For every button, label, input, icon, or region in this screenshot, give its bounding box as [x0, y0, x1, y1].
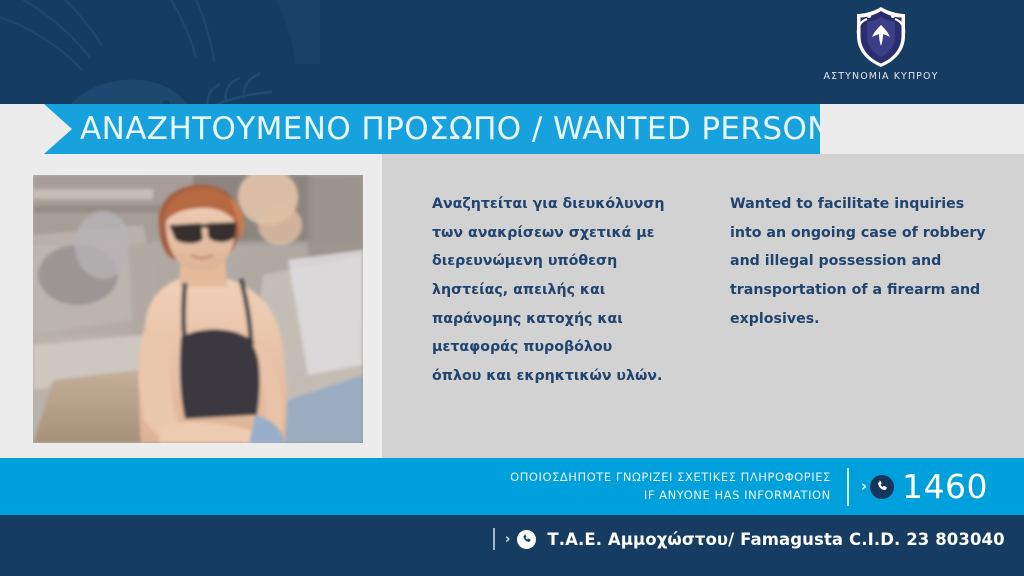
greek-line-6: όπλου και εκρηκτικών υλών. [432, 362, 694, 391]
dove-olive-branch-icon [0, 0, 320, 104]
english-line-2: and illegal possession and [730, 247, 992, 276]
police-force-block: ΑΣΤΥΝΟΜΙΑ ΚΥΠΡΟΥ [766, 6, 996, 82]
wanted-person-poster: ΑΣΤΥΝΟΜΙΑ ΚΥΠΡΟΥ Για μια πιο ασφαλή κοιν… [0, 0, 1024, 576]
hotline-prompt-greek: ΟΠΟΙΟΣΔΗΠΟΤΕ ΓΝΩΡΙΖΕΙ ΣΧΕΤΙΚΕΣ ΠΛΗΡΟΦΟΡΙ… [510, 469, 831, 487]
english-line-1: into an ongoing case of robbery [730, 219, 992, 248]
hotline-prompt-english: IF ANYONE HAS INFORMATION [510, 487, 831, 505]
hotline-divider [847, 468, 849, 506]
greek-line-5: μεταφοράς πυροβόλου [432, 333, 694, 362]
greek-line-2: διερευνώμενη υπόθεση [432, 247, 694, 276]
description-greek: Αναζητείται για διευκόλυνση των ανακρίσε… [432, 190, 694, 391]
telephone-handset-icon [517, 530, 536, 549]
page-title: ΑΝΑΖΗΤΟΥΜΕΝΟ ΠΡΟΣΩΠΟ / WANTED PERSON [80, 111, 831, 147]
description-columns: Αναζητείται για διευκόλυνση των ανακρίσε… [432, 190, 992, 391]
footer-divider [493, 528, 495, 550]
suspect-photo [33, 175, 363, 443]
chevron-right-icon: › [861, 479, 867, 494]
description-english: Wanted to facilitate inquiries into an o… [730, 190, 992, 391]
police-force-name: ΑΣΤΥΝΟΜΙΑ ΚΥΠΡΟΥ [766, 71, 996, 82]
wanted-person-banner: ΑΝΑΖΗΤΟΥΜΕΝΟ ΠΡΟΣΩΠΟ / WANTED PERSON [44, 104, 820, 154]
telephone-handset-icon [870, 475, 894, 499]
chevron-right-icon: › [505, 533, 510, 546]
hotline-number[interactable]: 1460 [902, 470, 988, 503]
footer-contact-text[interactable]: Τ.Α.Ε. Αμμοχώστου/ Famagusta C.I.D. 23 8… [547, 530, 1004, 549]
english-line-4: explosives. [730, 305, 992, 334]
english-line-0: Wanted to facilitate inquiries [730, 190, 992, 219]
greek-line-1: των ανακρίσεων σχετικά με [432, 219, 694, 248]
poster-footer: › Τ.Α.Ε. Αμμοχώστου/ Famagusta C.I.D. 23… [0, 515, 1024, 576]
poster-header: ΑΣΤΥΝΟΜΙΑ ΚΥΠΡΟΥ Για μια πιο ασφαλή κοιν… [0, 0, 1024, 104]
greek-line-3: ληστείας, απειλής και [432, 276, 694, 305]
greek-line-0: Αναζητείται για διευκόλυνση [432, 190, 694, 219]
english-line-3: transportation of a firearm and [730, 276, 992, 305]
footer-contact-row: › Τ.Α.Ε. Αμμοχώστου/ Famagusta C.I.D. 23… [493, 528, 1005, 550]
information-hotline-bar: ΟΠΟΙΟΣΔΗΠΟΤΕ ΓΝΩΡΙΖΕΙ ΣΧΕΤΙΚΕΣ ΠΛΗΡΟΦΟΡΙ… [0, 458, 1024, 515]
hotline-prompt: ΟΠΟΙΟΣΔΗΠΟΤΕ ΓΝΩΡΙΖΕΙ ΣΧΕΤΙΚΕΣ ΠΛΗΡΟΦΟΡΙ… [510, 469, 847, 505]
police-shield-emblem [853, 6, 909, 68]
greek-line-4: παράνομης κατοχής και [432, 305, 694, 334]
hotline-inner: ΟΠΟΙΟΣΔΗΠΟΤΕ ΓΝΩΡΙΖΕΙ ΣΧΕΤΙΚΕΣ ΠΛΗΡΟΦΟΡΙ… [510, 458, 988, 515]
